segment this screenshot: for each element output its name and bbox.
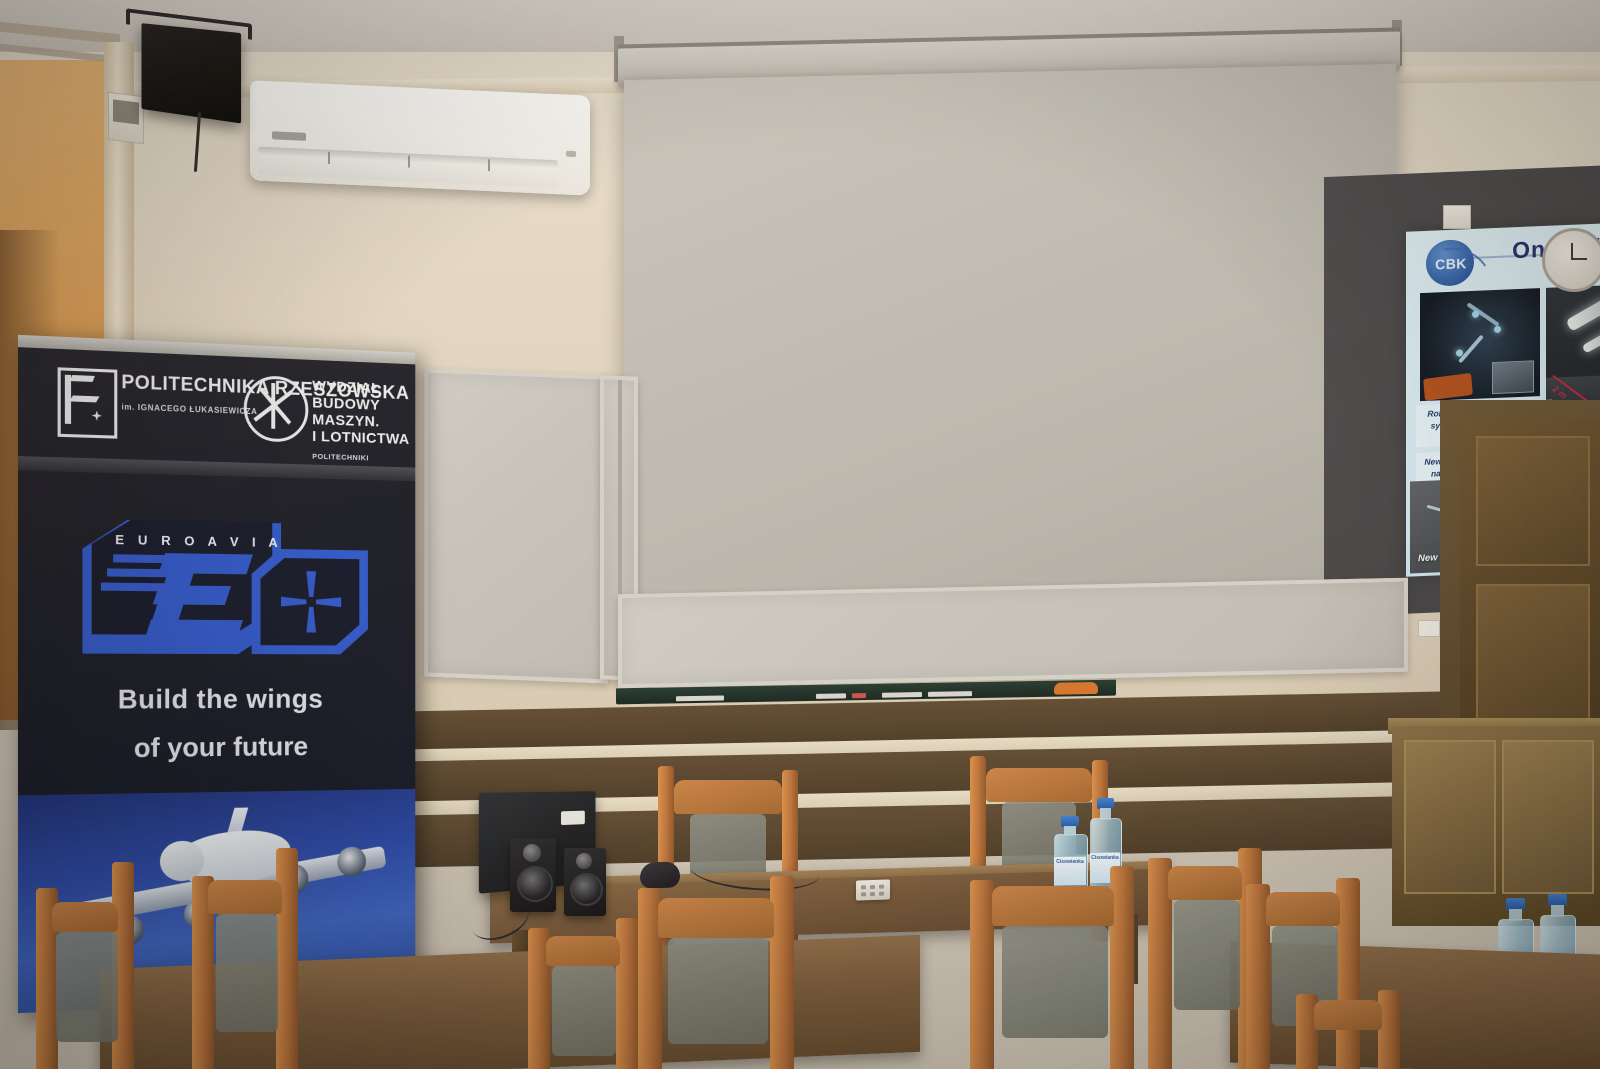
chair-front-4[interactable]	[628, 876, 808, 1069]
banner-tagline-1: Build the wings	[18, 684, 415, 716]
whiteboard-main	[618, 578, 1408, 689]
cbk-logo-icon: CBK	[1424, 236, 1486, 289]
bottle-brand-2: Cisowianka	[1090, 855, 1120, 861]
bottle-brand-1: Cisowianka	[1054, 859, 1086, 865]
projection-screen: skype CBK On - orbit robotics at CBK	[624, 64, 1396, 600]
euroavia-wordmark: E U R O A V I A	[115, 532, 282, 550]
door[interactable]	[1460, 418, 1600, 740]
wall-socket	[1418, 620, 1440, 637]
presenter-remote[interactable]	[856, 879, 890, 900]
ceiling-speaker-panel	[142, 23, 242, 123]
wall-junction-box	[108, 92, 144, 144]
ac-indicator-led	[566, 151, 576, 157]
laptop-badge	[561, 811, 585, 825]
wall-clock	[1542, 228, 1600, 292]
faculty-line-3: I LOTNICTWA	[312, 428, 409, 448]
room-scene: skype CBK On - orbit robotics at CBK	[0, 0, 1600, 1069]
chair-front-8[interactable]	[1290, 990, 1410, 1069]
maltese-cross-icon	[281, 571, 341, 633]
banner-tagline-2: of your future	[18, 730, 415, 765]
ac-vent	[258, 147, 558, 189]
ac-brand-logo	[272, 131, 306, 141]
light-switch[interactable]	[1443, 205, 1471, 229]
chair-front-1[interactable]	[28, 862, 148, 1069]
chair-front-5[interactable]	[960, 866, 1150, 1069]
chair-front-2[interactable]	[186, 848, 310, 1069]
whiteboard-eraser	[1054, 682, 1098, 695]
air-conditioner	[250, 80, 590, 195]
faculty-logo-icon	[244, 375, 309, 443]
euroavia-logo-icon: E U R O A V I A	[82, 509, 369, 662]
faculty-line-2: BUDOWY MASZYN.	[312, 394, 380, 430]
whiteboard-panel-left	[424, 368, 608, 683]
politechnika-logo-icon	[58, 367, 118, 438]
speaker-right	[564, 848, 606, 916]
photo-robotic-arm	[1420, 288, 1540, 401]
